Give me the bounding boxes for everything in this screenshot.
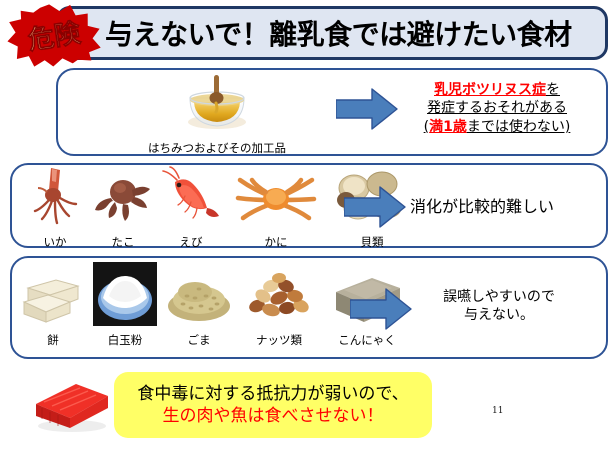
sesame-image <box>165 262 233 330</box>
reason-honey-suffix1: を <box>546 82 560 98</box>
reason-honey-term1: 乳児ボツリヌス症 <box>434 82 546 98</box>
page-number: 11 <box>492 406 503 416</box>
slide-root: 与えないで！離乳食では避けたい食材 危険 <box>0 0 616 454</box>
food-group-honey: はちみつおよびその加工品 <box>148 72 286 156</box>
reason-honey: 乳児ボツリヌス症を 発症するおそれがある (満1歳までは使わない) <box>404 81 590 136</box>
reason-honey-term2: 満1歳 <box>429 119 467 135</box>
food-caption: 白玉粉 <box>108 332 143 348</box>
food-caption: えび <box>180 234 203 250</box>
reason-choking: 誤嚥しやすいので 与えない。 <box>424 288 574 325</box>
food-caption: はちみつおよびその加工品 <box>148 140 286 156</box>
page-title: 与えないで！離乳食では避けたい食材 <box>59 13 572 53</box>
arrow-seafood <box>344 186 406 228</box>
food-item-mochi: 餅 <box>22 262 84 348</box>
crab-image <box>230 166 322 232</box>
food-caption: 貝類 <box>361 234 384 250</box>
arrow-honey <box>336 88 398 130</box>
food-item-squid: いか <box>24 166 86 250</box>
raw-tuna-image <box>28 378 114 434</box>
octopus-image <box>93 166 153 232</box>
food-item-shiratamako: 白玉粉 <box>92 262 158 348</box>
arrow-choking <box>350 288 412 330</box>
bottom-warning-banner: 食中毒に対する抵抗力が弱いので、 生の肉や魚は食べさせない！ <box>114 372 432 438</box>
reason-seafood-text: 消化が比較的難しい <box>410 197 554 216</box>
food-caption: ごま <box>188 332 211 348</box>
reason-choking-line2: 与えない。 <box>424 306 574 324</box>
reason-choking-line1: 誤嚥しやすいので <box>424 288 574 306</box>
food-item-octopus: たこ <box>92 166 154 250</box>
food-item-crab: かに <box>228 166 324 250</box>
danger-badge: 危険 <box>2 0 107 73</box>
food-item-sesame: ごま <box>166 262 232 348</box>
mochi-image <box>22 262 84 330</box>
food-caption: ナッツ類 <box>256 332 302 348</box>
reason-seafood: 消化が比較的難しい <box>410 196 554 217</box>
food-caption: たこ <box>112 234 135 250</box>
banner-line2: 生の肉や魚は食べさせない！ <box>163 405 384 427</box>
page-title-bar: 与えないで！離乳食では避けたい食材 <box>56 6 608 60</box>
honey-image <box>180 72 254 138</box>
food-item-honey: はちみつおよびその加工品 <box>148 72 286 156</box>
reason-honey-line2: 発症するおそれがある <box>427 100 567 116</box>
nuts-image <box>241 262 317 330</box>
squid-image <box>27 166 83 232</box>
shrimp-image <box>159 166 223 232</box>
food-caption: 餅 <box>47 332 59 348</box>
banner-line1: 食中毒に対する抵抗力が弱いので、 <box>137 383 408 405</box>
food-caption: かに <box>265 234 288 250</box>
food-item-nuts: ナッツ類 <box>240 262 318 348</box>
food-caption: いか <box>44 234 67 250</box>
food-caption: こんにゃく <box>338 332 396 348</box>
food-item-shrimp: えび <box>160 166 222 250</box>
shiratamako-image <box>93 262 157 330</box>
reason-honey-tail: までは使わない) <box>467 119 570 135</box>
